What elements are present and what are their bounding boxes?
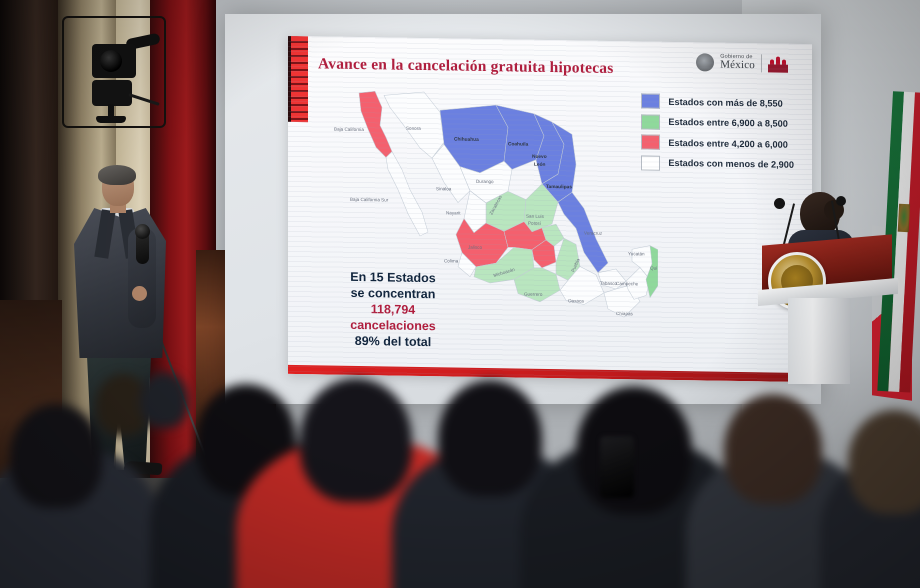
map-label-campeche: Campeche [616,281,639,286]
map-label-oaxaca: Oaxaca [568,298,584,303]
map-label-yucatan: Yucatán [628,251,645,256]
map-label-quintana-roo: Qui [650,266,657,271]
map-legend: Estados con más de 8,550 Estados entre 6… [641,93,794,172]
presentation-slide: Avance en la cancelación gratuita hipote… [288,36,812,382]
map-label-nuevo-leon-2: León [534,162,546,168]
gobierno-de-mexico-logo: Gobierno de México [696,53,788,72]
map-label-chiapas: Chiapas [616,311,634,316]
map-label-durango: Durango [476,179,494,184]
map-label-tabasco: Tabasco [600,281,618,286]
legend-label-4200-6000: Estados entre 4,200 a 6,000 [668,137,788,149]
audience-foreground [0,338,920,588]
podium-microphone-2-head-icon [836,196,846,206]
state-baja-california-sur [386,151,428,236]
podium-microphone-head-icon [774,198,785,209]
slide-title: Avance en la cancelación gratuita hipote… [318,55,613,78]
map-label-colima: Colima [444,258,459,263]
map-label-veracruz: Veracruz [584,231,603,236]
map-label-sonora: Sonora [406,126,421,131]
legend-item: Estados con más de 8,550 [641,93,794,110]
map-label-jalisco: Jalisco [468,245,482,250]
presenter-hand [132,286,147,301]
legend-label-6900-8500: Estados entre 6,900 a 8,500 [668,117,788,129]
state-sonora [384,91,444,158]
legend-item: Estados entre 6,900 a 8,500 [641,114,794,131]
map-label-guerrero: Guerrero [524,292,543,297]
map-label-san-luis-potosi-2: Potosí [528,221,542,226]
map-label-nuevo-leon: Nuevo [532,154,547,160]
national-seal-icon [696,53,714,71]
map-label-tamaulipas: Tamaulipas [546,184,572,190]
map-label-coahuila: Coahuila [508,141,529,147]
infonavit-logo-icon [768,55,788,72]
legend-item: Estados con menos de 2,900 [641,155,794,172]
map-label-baja-california-sur: Baja California Sur [350,197,389,203]
map-label-chihuahua: Chihuahua [454,136,479,142]
map-label-san-luis-potosi: San Luis [526,214,545,219]
microphone-head-icon [135,224,150,239]
legend-label-menos-de-2900: Estados con menos de 2,900 [668,158,794,170]
map-label-sinaloa: Sinaloa [436,186,452,191]
legend-label-mas-de-8550: Estados con más de 8,550 [668,96,782,108]
map-label-baja-california: Baja California [334,127,364,132]
smartphone-icon [600,436,634,498]
legend-item: Estados entre 4,200 a 6,000 [641,134,794,151]
slide-accent-bar [288,36,308,122]
map-label-nayarit: Nayarit [446,210,461,215]
presenter-hair [98,165,136,185]
logo-divider [761,54,762,72]
brand-large-line: México [720,60,755,72]
screenshot-root: Avance en la cancelación gratuita hipote… [0,0,920,588]
